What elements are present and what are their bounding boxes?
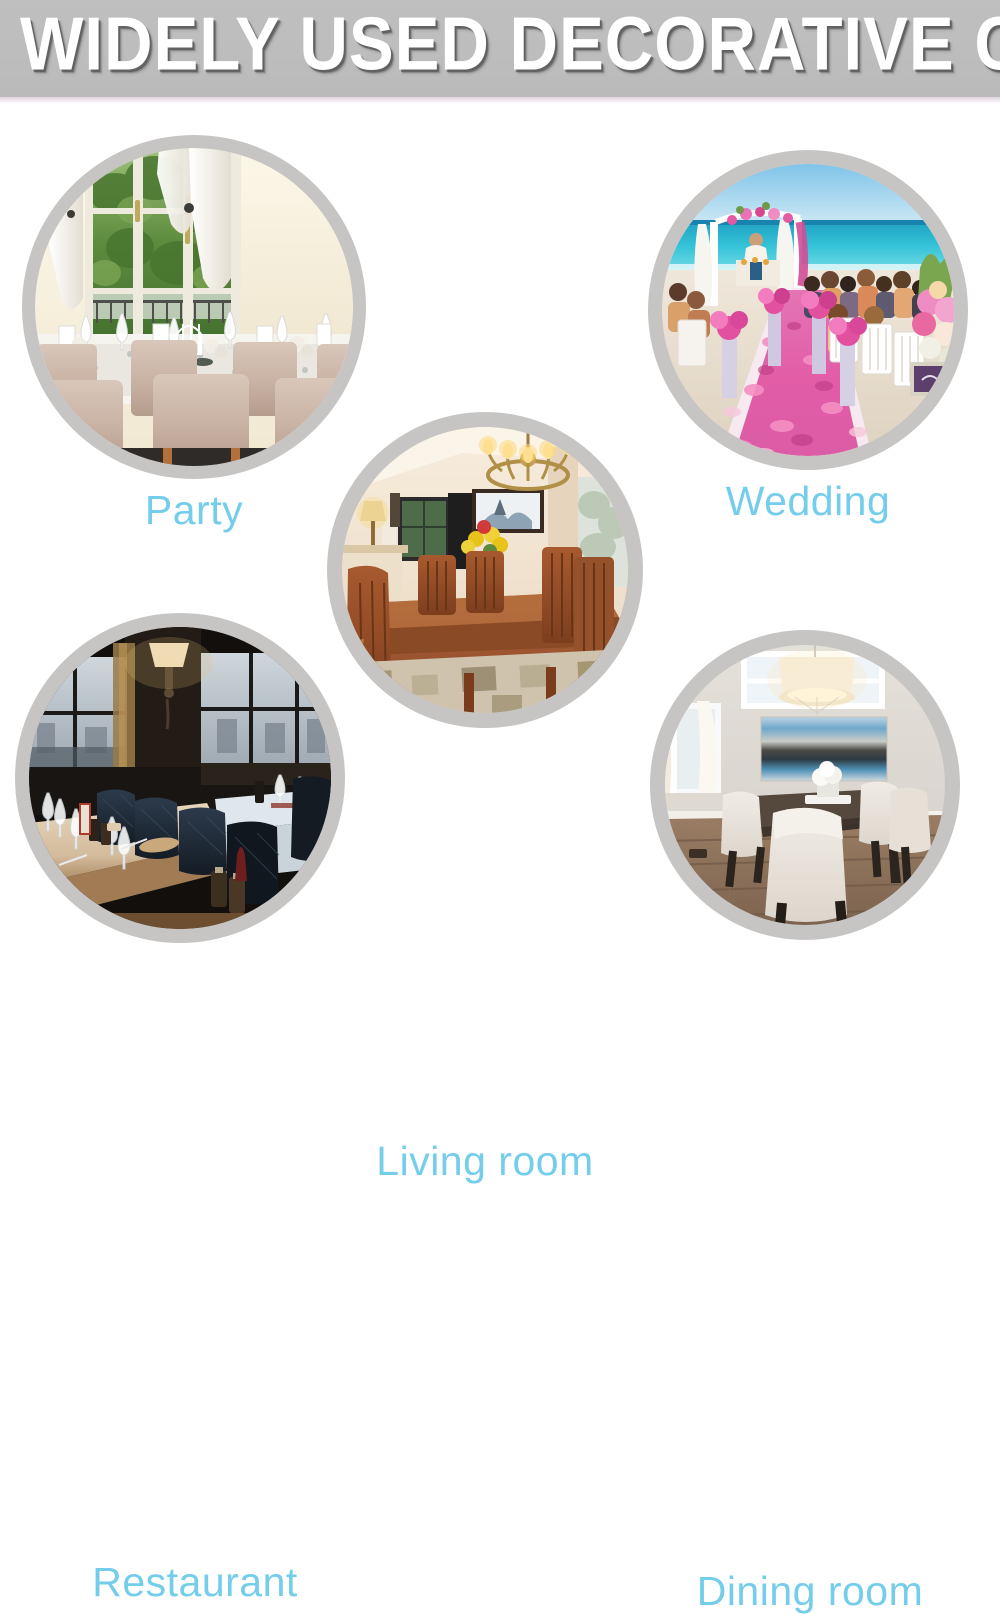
caption-wedding: Wedding bbox=[618, 478, 998, 524]
caption-dining-room: Dining room bbox=[610, 1568, 1000, 1614]
header-banner: WIDELY USED DECORATIVE CHAIR COVER bbox=[0, 0, 1000, 97]
page-title: WIDELY USED DECORATIVE CHAIR COVER bbox=[20, 6, 980, 82]
tile-dining-room[interactable]: Dining room bbox=[650, 630, 960, 940]
caption-living-room: Living room bbox=[287, 1138, 683, 1184]
photo-restaurant bbox=[29, 627, 331, 929]
photo-living-room bbox=[342, 427, 628, 713]
caption-restaurant: Restaurant bbox=[5, 1559, 385, 1605]
tile-party[interactable]: Party bbox=[22, 135, 366, 479]
photo-dining-room bbox=[665, 645, 945, 925]
photo-wedding bbox=[662, 164, 954, 456]
photo-party bbox=[35, 148, 353, 466]
tile-wedding[interactable]: Wedding bbox=[648, 150, 968, 470]
banner-underline-divider bbox=[0, 97, 1000, 104]
tile-restaurant[interactable]: Restaurant bbox=[15, 613, 345, 943]
tile-living-room[interactable]: Living room bbox=[327, 412, 643, 728]
